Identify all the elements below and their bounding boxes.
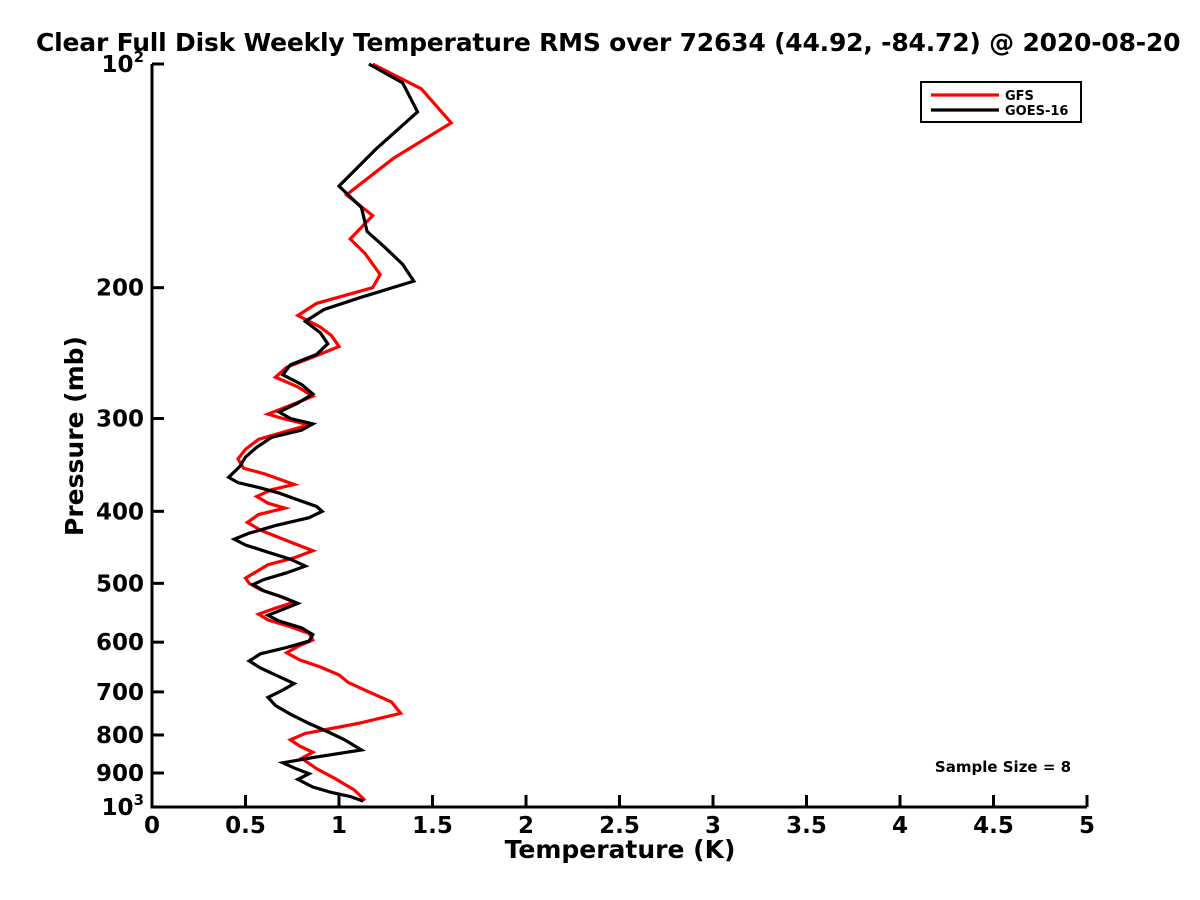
x-tick-label: 3.5 xyxy=(786,813,827,839)
x-axis-title: Temperature (K) xyxy=(505,835,736,864)
y-tick-label: 103 xyxy=(102,791,144,821)
sample-size-annotation: Sample Size = 8 xyxy=(935,758,1071,776)
x-tick-label: 0.5 xyxy=(225,813,266,839)
axis-lines xyxy=(152,64,1087,807)
temperature-rms-profile-plot: 00.511.522.533.544.55 102200300400500600… xyxy=(0,0,1200,900)
data-series-group xyxy=(229,64,452,801)
y-tick-label: 300 xyxy=(96,407,144,433)
legend-label-gfs: GFS xyxy=(1005,89,1034,104)
y-tick-label: 400 xyxy=(96,499,144,525)
legend[interactable]: GFSGOES-16 xyxy=(921,82,1081,122)
legend-label-goes-16: GOES-16 xyxy=(1005,104,1068,119)
x-tick-label: 5 xyxy=(1079,813,1095,839)
y-axis-title: Pressure (mb) xyxy=(60,336,89,536)
axes-frame xyxy=(152,64,1087,807)
y-tick-label: 102 xyxy=(102,48,144,78)
y-tick-label: 500 xyxy=(96,571,144,597)
y-tick-label: 600 xyxy=(96,630,144,656)
y-tick-label: 800 xyxy=(96,723,144,749)
x-tick-label: 4 xyxy=(892,813,908,839)
series-line-gfs xyxy=(238,64,451,800)
y-tick-label: 900 xyxy=(96,761,144,787)
chart-page: Clear Full Disk Weekly Temperature RMS o… xyxy=(0,0,1200,900)
y-tick-label: 200 xyxy=(96,276,144,302)
x-tick-label: 4.5 xyxy=(973,813,1014,839)
x-tick-label: 1.5 xyxy=(412,813,453,839)
series-line-goes-16 xyxy=(229,64,418,801)
x-tick-label: 0 xyxy=(144,813,160,839)
y-tick-label: 700 xyxy=(96,680,144,706)
x-tick-label: 1 xyxy=(331,813,347,839)
y-axis-ticks: 102200300400500600700800900103 xyxy=(96,48,164,821)
x-axis-ticks: 00.511.522.533.544.55 xyxy=(144,795,1095,839)
